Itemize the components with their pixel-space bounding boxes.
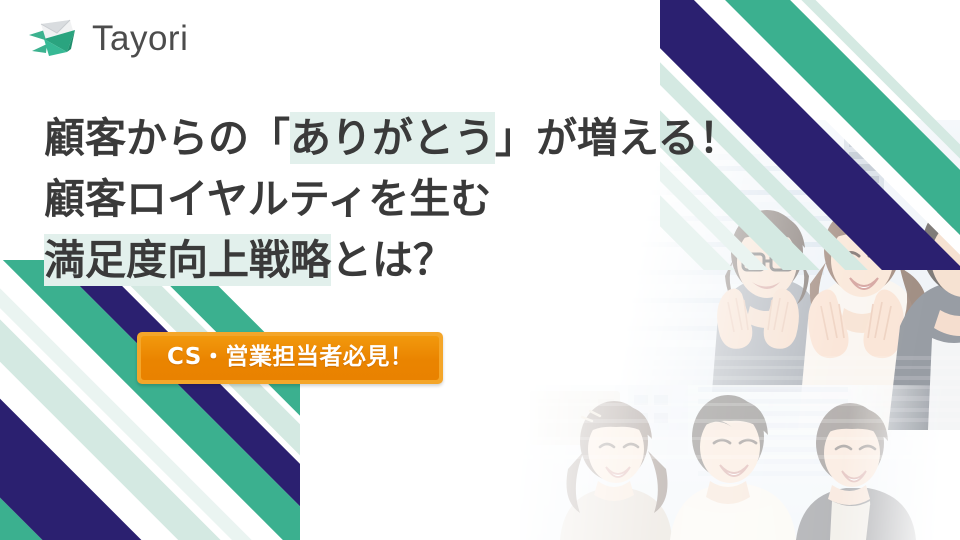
paper-plane-envelope-icon xyxy=(26,16,82,60)
logo-wordmark: Tayori xyxy=(92,21,188,56)
page-title: 顧客からの「ありがとう」が増える！ 顧客ロイヤルティを生む 満足度向上戦略とは？ xyxy=(44,108,874,291)
smiling-team-photo xyxy=(520,385,960,540)
headline-line1-pre: 顧客からの「 xyxy=(44,114,290,162)
headline-line3-post: とは？ xyxy=(331,236,454,284)
stripes-bottom-left-svg xyxy=(0,260,300,540)
tayori-logo[interactable]: Tayori xyxy=(26,16,188,60)
headline-line-3: 満足度向上戦略とは？ xyxy=(44,230,874,291)
banner-canvas: Tayori 顧客からの「ありがとう」が増える！ 顧客ロイヤルティを生む 満足度… xyxy=(0,0,960,540)
diagonal-stripes-bottom-left xyxy=(0,260,300,540)
audience-badge[interactable]: CS・営業担当者必見！ xyxy=(137,332,443,384)
photo-fade-overlay-lower xyxy=(520,385,960,540)
audience-badge-label: CS・営業担当者必見！ xyxy=(141,336,439,380)
headline-line-2: 顧客ロイヤルティを生む xyxy=(44,169,874,230)
headline-highlight-manzokudo: 満足度向上戦略 xyxy=(44,234,331,286)
headline-line1-post: 」が増える！ xyxy=(495,114,740,162)
headline-highlight-arigatou: ありがとう xyxy=(290,112,495,164)
headline-line-1: 顧客からの「ありがとう」が増える！ xyxy=(44,108,874,169)
